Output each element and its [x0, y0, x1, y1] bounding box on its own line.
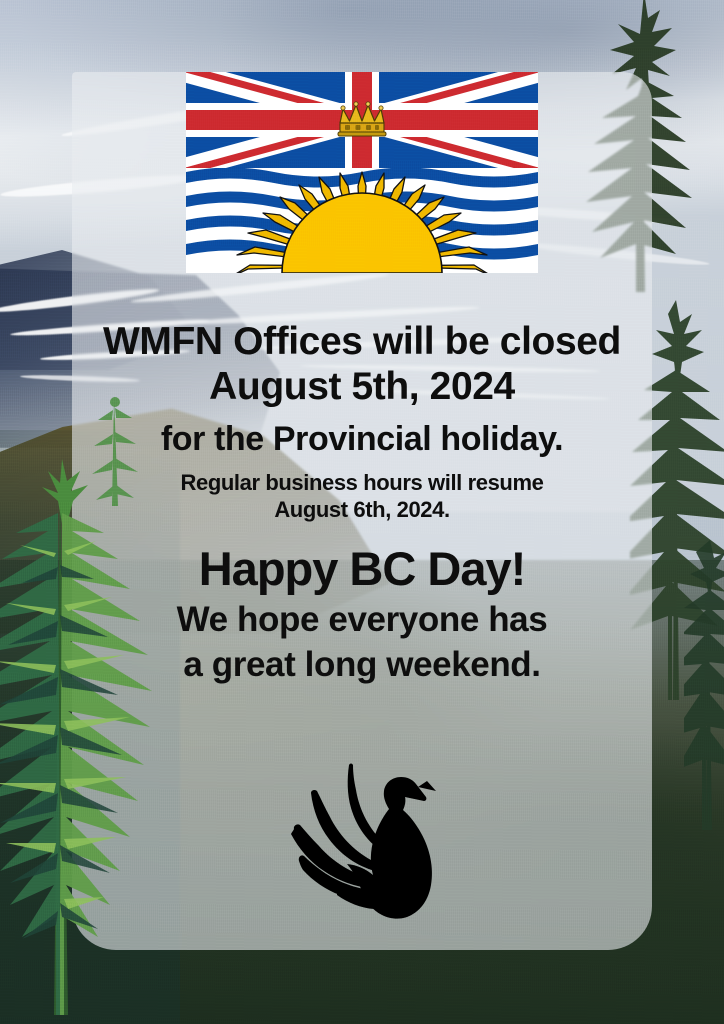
message-line-4: Regular business hours will resume	[72, 472, 652, 494]
wish-line-1: We hope everyone has	[72, 602, 652, 637]
poster-canvas: WMFN Offices will be closed August 5th, …	[0, 0, 724, 1024]
message-line-1: WMFN Offices will be closed	[72, 322, 652, 361]
background-tree-farright	[684, 540, 724, 840]
swan-logo	[285, 757, 455, 920]
message-line-2: August 5th, 2024	[72, 367, 652, 406]
message-line-5: August 6th, 2024.	[72, 499, 652, 521]
message-text-block: WMFN Offices will be closed August 5th, …	[72, 322, 652, 682]
swan-icon	[285, 757, 455, 920]
bc-flag	[186, 72, 538, 273]
wish-line-2: a great long weekend.	[72, 647, 652, 682]
greeting-text: Happy BC Day!	[72, 545, 652, 592]
message-line-3: for the Provincial holiday.	[72, 422, 652, 456]
